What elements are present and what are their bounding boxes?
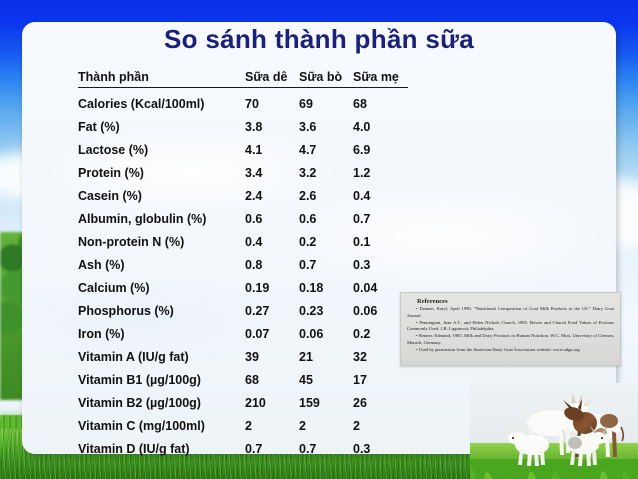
cell-component-name: Vitamin C (mg/100ml) <box>78 410 245 433</box>
cell-cow-value: 2.6 <box>299 180 353 203</box>
cell-cow-value: 0.23 <box>299 295 353 318</box>
cell-goat-value: 0.27 <box>245 295 299 318</box>
cell-human-value: 4.0 <box>353 111 408 134</box>
column-header-human-milk: Sữa mẹ <box>353 70 408 88</box>
cell-cow-value: 0.7 <box>299 249 353 272</box>
milk-comparison-table: Thành phần Sữa dê Sữa bò Sữa mẹ Calories… <box>78 70 408 456</box>
slide-title: So sánh thành phần sữa <box>0 24 638 55</box>
cell-goat-value: 68 <box>245 364 299 387</box>
table-row: Calcium (%) 0.19 0.18 0.04 <box>78 272 408 295</box>
table-row: Vitamin A (IU/g fat) 39 21 32 <box>78 341 408 364</box>
cell-component-name: Iron (%) <box>78 318 245 341</box>
cell-goat-value: 0.6 <box>245 203 299 226</box>
cell-cow-value: 0.6 <box>299 203 353 226</box>
table-row: Iron (%) 0.07 0.06 0.2 <box>78 318 408 341</box>
table-row: Non-protein N (%) 0.4 0.2 0.1 <box>78 226 408 249</box>
column-header-goat-milk: Sữa dê <box>245 70 299 88</box>
table-row: Vitamin C (mg/100ml) 2 2 2 <box>78 410 408 433</box>
cell-cow-value: 0.18 <box>299 272 353 295</box>
slide: So sánh thành phần sữa Thành phần Sữa dê… <box>0 0 638 479</box>
cell-component-name: Vitamin A (IU/g fat) <box>78 341 245 364</box>
cell-human-value: 1.2 <box>353 157 408 180</box>
cell-human-value: 0.1 <box>353 226 408 249</box>
cell-component-name: Ash (%) <box>78 249 245 272</box>
cell-human-value: 0.7 <box>353 203 408 226</box>
cell-component-name: Albumin, globulin (%) <box>78 203 245 226</box>
goats-photo <box>470 383 638 479</box>
cell-human-value: 0.3 <box>353 249 408 272</box>
cell-component-name: Lactose (%) <box>78 134 245 157</box>
cell-cow-value: 159 <box>299 387 353 410</box>
cell-cow-value: 0.7 <box>299 433 353 456</box>
cell-component-name: Fat (%) <box>78 111 245 134</box>
cell-component-name: Vitamin B1 (µg/100g) <box>78 364 245 387</box>
cell-goat-value: 3.8 <box>245 111 299 134</box>
table-body: Calories (Kcal/100ml) 70 69 68 Fat (%) 3… <box>78 88 408 457</box>
cell-goat-value: 0.19 <box>245 272 299 295</box>
cell-goat-value: 0.7 <box>245 433 299 456</box>
cell-human-value: 2 <box>353 410 408 433</box>
cell-goat-value: 3.4 <box>245 157 299 180</box>
cell-cow-value: 21 <box>299 341 353 364</box>
cell-component-name: Calories (Kcal/100ml) <box>78 88 245 112</box>
table-row: Vitamin B2 (µg/100g) 210 159 26 <box>78 387 408 410</box>
cell-cow-value: 3.6 <box>299 111 353 134</box>
cell-component-name: Vitamin B2 (µg/100g) <box>78 387 245 410</box>
cell-cow-value: 4.7 <box>299 134 353 157</box>
cell-component-name: Phosphorus (%) <box>78 295 245 318</box>
cell-cow-value: 0.2 <box>299 226 353 249</box>
cell-goat-value: 210 <box>245 387 299 410</box>
table-row: Albumin, globulin (%) 0.6 0.6 0.7 <box>78 203 408 226</box>
reference-item: • Renner, Edmund, 1983. Milk and Dairy P… <box>407 333 614 347</box>
cell-cow-value: 0.06 <box>299 318 353 341</box>
cell-component-name: Vitamin D (IU/g fat) <box>78 433 245 456</box>
reference-item: • Used by permission from the American D… <box>407 347 614 354</box>
reference-item: • Pennington, Jean A.T., and Helen Nicho… <box>407 320 614 334</box>
table-row: Vitamin B1 (µg/100g) 68 45 17 <box>78 364 408 387</box>
table-row: Phosphorus (%) 0.27 0.23 0.06 <box>78 295 408 318</box>
column-header-component: Thành phần <box>78 70 245 88</box>
table-row: Calories (Kcal/100ml) 70 69 68 <box>78 88 408 112</box>
cell-goat-value: 2 <box>245 410 299 433</box>
cell-human-value: 17 <box>353 364 408 387</box>
references-title: References <box>417 298 614 305</box>
table-row: Vitamin D (IU/g fat) 0.7 0.7 0.3 <box>78 433 408 456</box>
cell-human-value: 68 <box>353 88 408 112</box>
column-header-cow-milk: Sữa bò <box>299 70 353 88</box>
table-row: Lactose (%) 4.1 4.7 6.9 <box>78 134 408 157</box>
cell-human-value: 26 <box>353 387 408 410</box>
table-header-row: Thành phần Sữa dê Sữa bò Sữa mẹ <box>78 70 408 88</box>
cell-component-name: Protein (%) <box>78 157 245 180</box>
cell-human-value: 0.4 <box>353 180 408 203</box>
table-row: Fat (%) 3.8 3.6 4.0 <box>78 111 408 134</box>
cell-cow-value: 3.2 <box>299 157 353 180</box>
cell-goat-value: 4.1 <box>245 134 299 157</box>
table-row: Casein (%) 2.4 2.6 0.4 <box>78 180 408 203</box>
references-box: References • Dzanen, Karyl, April 1990. … <box>400 292 621 366</box>
cell-goat-value: 2.4 <box>245 180 299 203</box>
cell-component-name: Casein (%) <box>78 180 245 203</box>
cell-goat-value: 0.07 <box>245 318 299 341</box>
cell-human-value: 0.3 <box>353 433 408 456</box>
cell-component-name: Non-protein N (%) <box>78 226 245 249</box>
cell-cow-value: 69 <box>299 88 353 112</box>
cell-goat-value: 39 <box>245 341 299 364</box>
cell-cow-value: 45 <box>299 364 353 387</box>
table-row: Ash (%) 0.8 0.7 0.3 <box>78 249 408 272</box>
cell-human-value: 6.9 <box>353 134 408 157</box>
cell-goat-value: 0.8 <box>245 249 299 272</box>
cell-cow-value: 2 <box>299 410 353 433</box>
table-row: Protein (%) 3.4 3.2 1.2 <box>78 157 408 180</box>
reference-item: • Dzanen, Karyl, April 1990. "Nutritiona… <box>407 306 614 320</box>
cell-goat-value: 0.4 <box>245 226 299 249</box>
cell-goat-value: 70 <box>245 88 299 112</box>
cell-component-name: Calcium (%) <box>78 272 245 295</box>
